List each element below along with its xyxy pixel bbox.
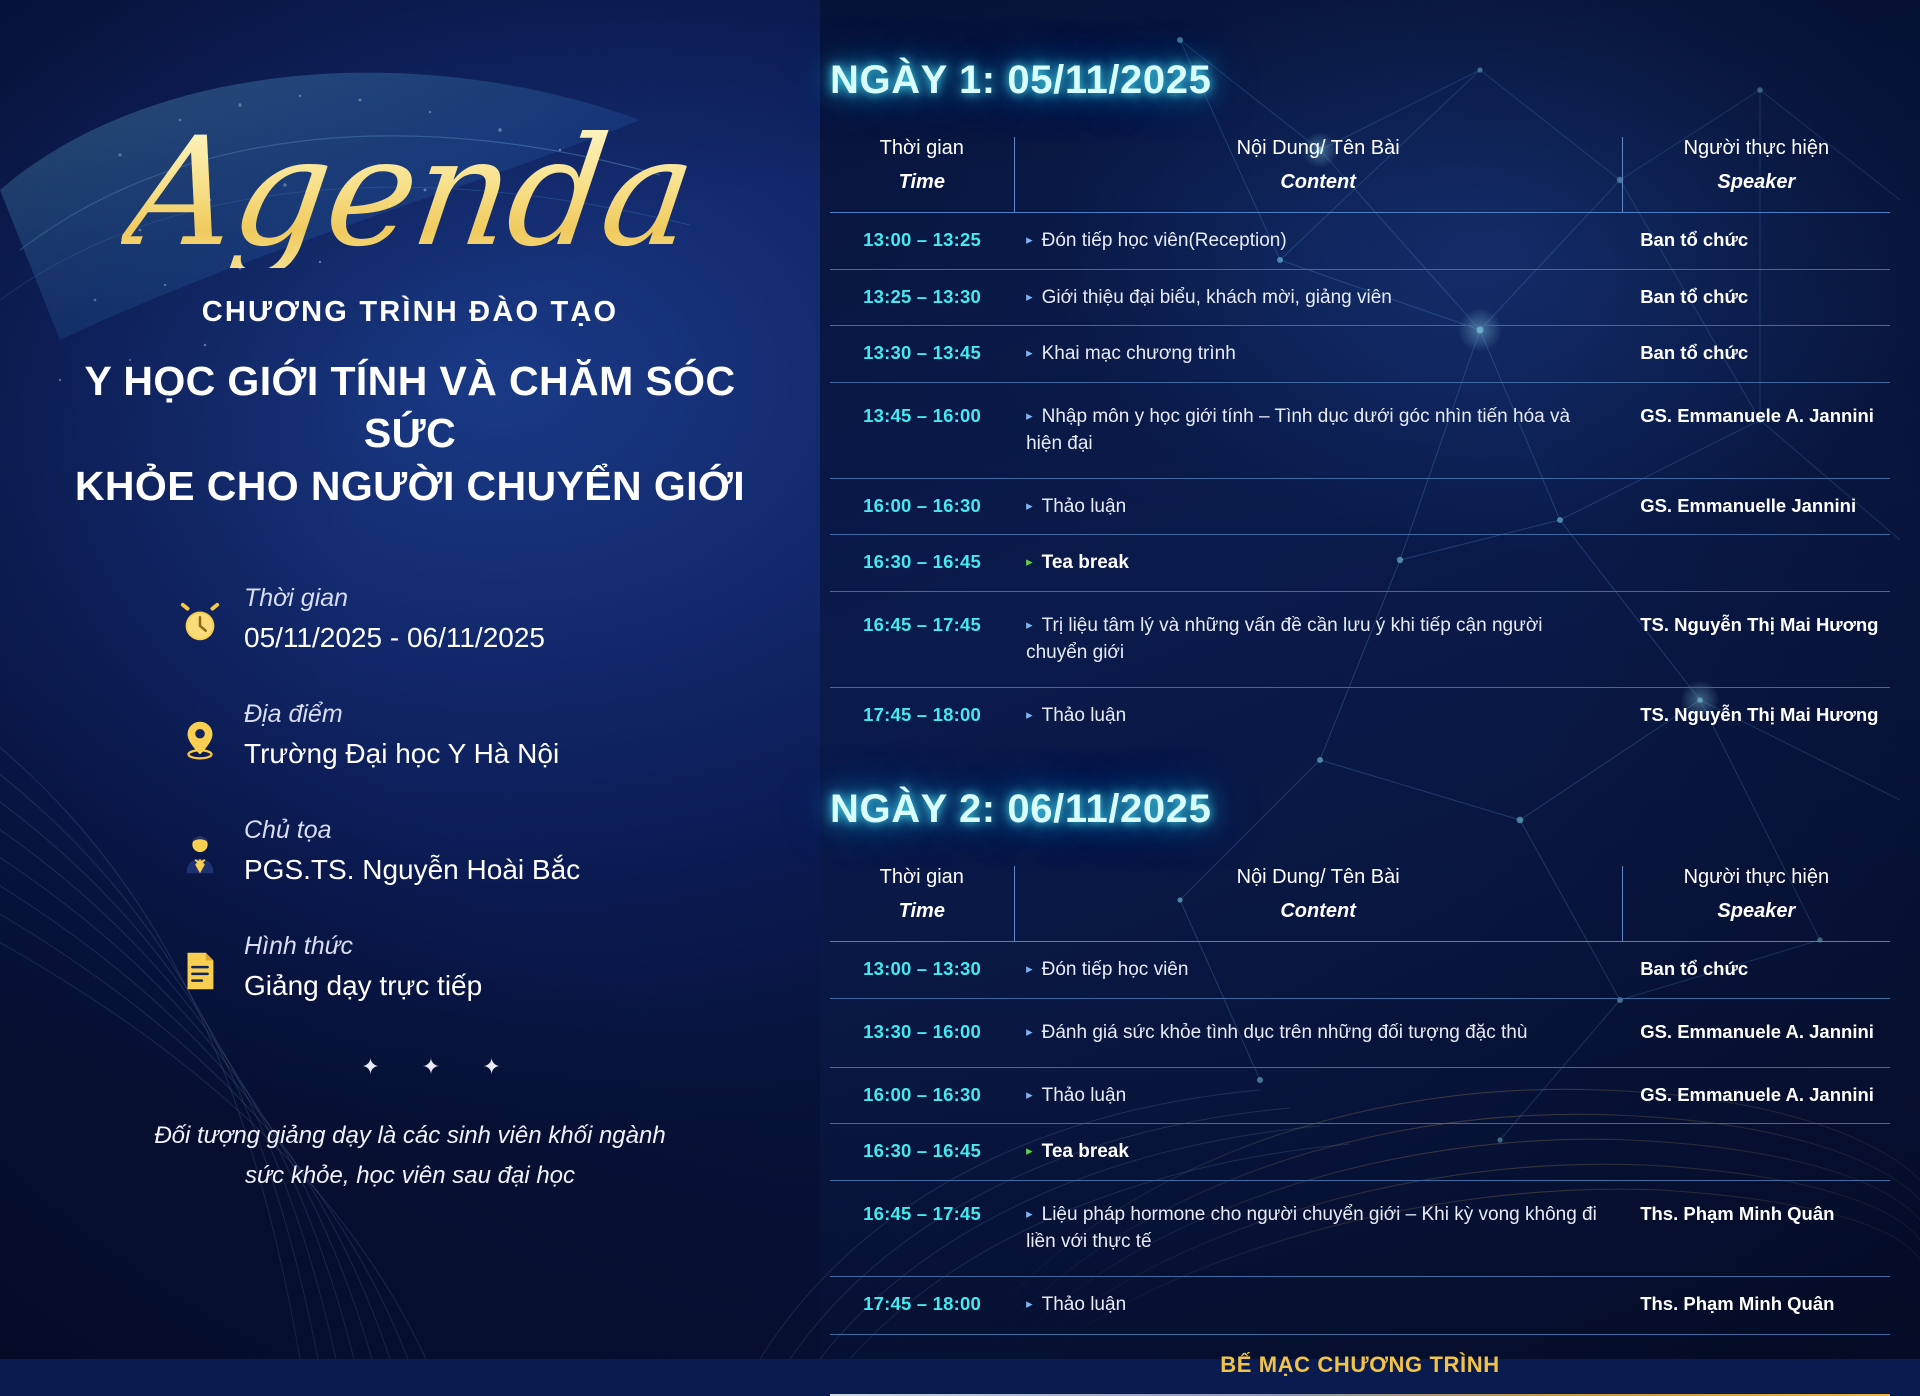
table-row: 17:45 – 18:00▸Thảo luậnTS. Nguyễn Thị Ma… (830, 687, 1890, 743)
row-speaker: GS. Emmanuelle Jannini (1622, 478, 1890, 535)
row-content-text: Giới thiệu đại biểu, khách mời, giảng vi… (1042, 287, 1392, 308)
bullet-blue-icon: ▸ (1026, 498, 1033, 513)
left-hero-panel: Agenda CHƯƠNG TRÌNH ĐÀO TẠO Y HỌC GIỚI T… (0, 0, 820, 1359)
info-item-chair: Chủ tọa PGS.TS. Nguyễn Hoài Bắc (172, 816, 690, 886)
bullet-blue-icon: ▸ (1026, 232, 1033, 247)
column-header-content-en: Content (1015, 900, 1622, 923)
row-content: ▸Đón tiếp học viên(Reception) (1014, 213, 1622, 270)
row-time: 16:30 – 16:45 (830, 535, 1014, 592)
row-speaker: GS. Emmanuele A. Jannini (1622, 1067, 1890, 1124)
day-2-table-head: Thời gian Time Nội Dung/ Tên Bài Content… (830, 866, 1890, 942)
row-content-text: Liệu pháp hormone cho người chuyển giới … (1026, 1204, 1597, 1253)
row-speaker: Ban tổ chức (1622, 269, 1890, 326)
audience-footnote-line-2: sức khỏe, học viên sau đại học (90, 1156, 730, 1196)
bullet-blue-icon: ▸ (1026, 1024, 1033, 1039)
bullet-blue-icon: ▸ (1026, 961, 1033, 976)
row-content-text: Khai mạc chương trình (1042, 343, 1236, 364)
row-content-text: Thảo luận (1042, 1085, 1127, 1106)
column-header-time: Thời gian Time (830, 866, 1014, 942)
column-header-time-vi: Thời gian (830, 137, 1014, 160)
row-content: ▸Trị liệu tâm lý và những vấn đề cần lưu… (1014, 591, 1622, 687)
row-time: 17:45 – 18:00 (830, 1276, 1014, 1332)
info-item-format-text: Hình thức Giảng dạy trực tiếp (228, 932, 482, 1002)
row-content: ▸Thảo luận (1014, 687, 1622, 743)
row-content-text: Tea break (1042, 552, 1129, 573)
row-content-text: Trị liệu tâm lý và những vấn đề cần lưu … (1026, 615, 1542, 664)
column-header-content-en: Content (1015, 171, 1622, 194)
bullet-green-icon: ▸ (1026, 554, 1033, 569)
row-time: 13:00 – 13:25 (830, 213, 1014, 270)
bullet-blue-icon: ▸ (1026, 1206, 1033, 1221)
decorative-stars: ✦ ✦ ✦ (0, 1054, 820, 1080)
table-row: 13:25 – 13:30▸Giới thiệu đại biểu, khách… (830, 269, 1890, 326)
row-time: 13:30 – 16:00 (830, 999, 1014, 1068)
bullet-blue-icon: ▸ (1026, 1087, 1033, 1102)
column-header-content-vi: Nội Dung/ Tên Bài (1015, 137, 1622, 160)
row-time: 16:00 – 16:30 (830, 478, 1014, 535)
day-2-table-body: 13:00 – 13:30▸Đón tiếp học viênBan tổ ch… (830, 942, 1890, 1332)
row-content-text: Đón tiếp học viên (1042, 959, 1189, 980)
info-item-format: Hình thức Giảng dạy trực tiếp (172, 932, 690, 1002)
row-time: 16:30 – 16:45 (830, 1124, 1014, 1181)
row-speaker: GS. Emmanuele A. Jannini (1622, 999, 1890, 1068)
row-speaker: Ths. Phạm Minh Quân (1622, 1276, 1890, 1332)
audience-footnote-line-1: Đối tượng giảng dạy là các sinh viên khố… (90, 1116, 730, 1156)
event-info-list: Thời gian 05/11/2025 - 06/11/2025 Địa đi… (130, 584, 690, 1048)
bullet-blue-icon: ▸ (1026, 1296, 1033, 1311)
column-header-time-en: Time (830, 900, 1014, 923)
column-header-content: Nội Dung/ Tên Bài Content (1014, 137, 1622, 213)
table-row: 16:30 – 16:45▸Tea break (830, 535, 1890, 592)
column-header-speaker-en: Speaker (1623, 171, 1890, 194)
table-row: 13:00 – 13:30▸Đón tiếp học viênBan tổ ch… (830, 942, 1890, 999)
row-content: ▸Đánh giá sức khỏe tình dục trên những đ… (1014, 999, 1622, 1068)
row-content: ▸Thảo luận (1014, 478, 1622, 535)
column-header-speaker-vi: Người thực hiện (1623, 137, 1890, 160)
day-1-schedule-table: Thời gian Time Nội Dung/ Tên Bài Content… (830, 137, 1890, 743)
bullet-blue-icon: ▸ (1026, 408, 1033, 423)
page-title-line-1: Y HỌC GIỚI TÍNH VÀ CHĂM SÓC SỨC (50, 355, 770, 460)
row-content-text: Đánh giá sức khỏe tình dục trên những đố… (1042, 1022, 1528, 1043)
chairperson-icon (172, 816, 228, 878)
row-content-text: Thảo luận (1042, 705, 1127, 726)
table-row: 16:30 – 16:45▸Tea break (830, 1124, 1890, 1181)
column-header-speaker-vi: Người thực hiện (1623, 866, 1890, 889)
row-content-text: Thảo luận (1042, 496, 1127, 517)
closing-section: BẾ MẠC CHƯƠNG TRÌNH (830, 1334, 1890, 1396)
day-2-schedule-table: Thời gian Time Nội Dung/ Tên Bài Content… (830, 866, 1890, 1332)
agenda-wordmark: Agenda (118, 118, 702, 268)
bullet-green-icon: ▸ (1026, 1143, 1033, 1158)
row-speaker: TS. Nguyễn Thị Mai Hương (1622, 687, 1890, 743)
alarm-clock-icon (172, 584, 228, 646)
bullet-blue-icon: ▸ (1026, 289, 1033, 304)
closing-label: BẾ MẠC CHƯƠNG TRÌNH (830, 1335, 1890, 1394)
document-icon (172, 932, 228, 994)
info-label-time: Thời gian (244, 584, 545, 613)
table-row: 16:45 – 17:45▸Trị liệu tâm lý và những v… (830, 591, 1890, 687)
column-header-content-vi: Nội Dung/ Tên Bài (1015, 866, 1622, 889)
row-time: 16:45 – 17:45 (830, 591, 1014, 687)
row-content-text: Thảo luận (1042, 1294, 1127, 1315)
day-1-heading: NGÀY 1: 05/11/2025 (830, 58, 1860, 103)
row-content: ▸Liệu pháp hormone cho người chuyển giới… (1014, 1180, 1622, 1276)
row-speaker (1622, 535, 1890, 592)
info-label-chair: Chủ tọa (244, 816, 580, 845)
row-content: ▸Nhập môn y học giới tính – Tình dục dướ… (1014, 382, 1622, 478)
row-time: 13:30 – 13:45 (830, 326, 1014, 383)
info-value-time: 05/11/2025 - 06/11/2025 (244, 622, 545, 654)
table-row: 16:00 – 16:30▸Thảo luậnGS. Emmanuele A. … (830, 1067, 1890, 1124)
table-row: 13:30 – 13:45▸Khai mạc chương trìnhBan t… (830, 326, 1890, 383)
row-time: 13:00 – 13:30 (830, 942, 1014, 999)
info-value-format: Giảng dạy trực tiếp (244, 970, 482, 1002)
column-header-time-vi: Thời gian (830, 866, 1014, 889)
row-time: 16:45 – 17:45 (830, 1180, 1014, 1276)
bullet-blue-icon: ▸ (1026, 707, 1033, 722)
info-value-chair: PGS.TS. Nguyễn Hoài Bắc (244, 854, 580, 886)
agenda-schedule-panel: NGÀY 1: 05/11/2025 Thời gian Time Nội Du… (820, 0, 1920, 1359)
page-title-line-2: KHỎE CHO NGƯỜI CHUYỂN GIỚI (50, 460, 770, 512)
row-content: ▸Đón tiếp học viên (1014, 942, 1622, 999)
info-label-format: Hình thức (244, 932, 482, 961)
column-header-speaker: Người thực hiện Speaker (1622, 137, 1890, 213)
row-content: ▸Giới thiệu đại biểu, khách mời, giảng v… (1014, 269, 1622, 326)
column-header-time: Thời gian Time (830, 137, 1014, 213)
map-pin-icon (172, 700, 228, 762)
row-speaker: GS. Emmanuele A. Jannini (1622, 382, 1890, 478)
row-content-text: Tea break (1042, 1141, 1129, 1162)
row-time: 16:00 – 16:30 (830, 1067, 1014, 1124)
row-speaker (1622, 1124, 1890, 1181)
row-speaker: Ths. Phạm Minh Quân (1622, 1180, 1890, 1276)
info-value-location: Trường Đại học Y Hà Nội (244, 738, 559, 770)
row-content: ▸Khai mạc chương trình (1014, 326, 1622, 383)
audience-footnote: Đối tượng giảng dạy là các sinh viên khố… (90, 1116, 730, 1195)
column-header-speaker-en: Speaker (1623, 900, 1890, 923)
table-row: 13:00 – 13:25▸Đón tiếp học viên(Receptio… (830, 213, 1890, 270)
row-content: ▸Thảo luận (1014, 1067, 1622, 1124)
day-2-heading: NGÀY 2: 06/11/2025 (830, 787, 1860, 832)
row-content: ▸Tea break (1014, 1124, 1622, 1181)
column-header-speaker: Người thực hiện Speaker (1622, 866, 1890, 942)
table-row: 13:45 – 16:00▸Nhập môn y học giới tính –… (830, 382, 1890, 478)
row-speaker: Ban tổ chức (1622, 942, 1890, 999)
info-item-chair-text: Chủ tọa PGS.TS. Nguyễn Hoài Bắc (228, 816, 580, 886)
table-row: 16:00 – 16:30▸Thảo luậnGS. Emmanuelle Ja… (830, 478, 1890, 535)
table-row: 16:45 – 17:45▸Liệu pháp hormone cho ngườ… (830, 1180, 1890, 1276)
table-row: 13:30 – 16:00▸Đánh giá sức khỏe tình dục… (830, 999, 1890, 1068)
info-item-time-text: Thời gian 05/11/2025 - 06/11/2025 (228, 584, 545, 654)
info-item-location-text: Địa điểm Trường Đại học Y Hà Nội (228, 700, 559, 770)
info-item-location: Địa điểm Trường Đại học Y Hà Nội (172, 700, 690, 770)
bullet-blue-icon: ▸ (1026, 345, 1033, 360)
column-header-content: Nội Dung/ Tên Bài Content (1014, 866, 1622, 942)
bullet-blue-icon: ▸ (1026, 617, 1033, 632)
row-content-text: Đón tiếp học viên(Reception) (1042, 230, 1287, 251)
page-title: Y HỌC GIỚI TÍNH VÀ CHĂM SÓC SỨC KHỎE CHO… (50, 355, 770, 512)
row-time: 13:25 – 13:30 (830, 269, 1014, 326)
row-content-text: Nhập môn y học giới tính – Tình dục dưới… (1026, 406, 1570, 455)
row-speaker: Ban tổ chức (1622, 326, 1890, 383)
info-label-location: Địa điểm (244, 700, 559, 729)
row-content: ▸Tea break (1014, 535, 1622, 592)
program-subtitle: CHƯƠNG TRÌNH ĐÀO TẠO (202, 296, 619, 329)
day-1-table-head: Thời gian Time Nội Dung/ Tên Bài Content… (830, 137, 1890, 213)
table-row: 17:45 – 18:00▸Thảo luậnThs. Phạm Minh Qu… (830, 1276, 1890, 1332)
info-item-time: Thời gian 05/11/2025 - 06/11/2025 (172, 584, 690, 654)
day-1-table-body: 13:00 – 13:25▸Đón tiếp học viên(Receptio… (830, 213, 1890, 744)
row-content: ▸Thảo luận (1014, 1276, 1622, 1332)
column-header-time-en: Time (830, 171, 1014, 194)
row-time: 17:45 – 18:00 (830, 687, 1014, 743)
row-speaker: TS. Nguyễn Thị Mai Hương (1622, 591, 1890, 687)
row-speaker: Ban tổ chức (1622, 213, 1890, 270)
row-time: 13:45 – 16:00 (830, 382, 1014, 478)
